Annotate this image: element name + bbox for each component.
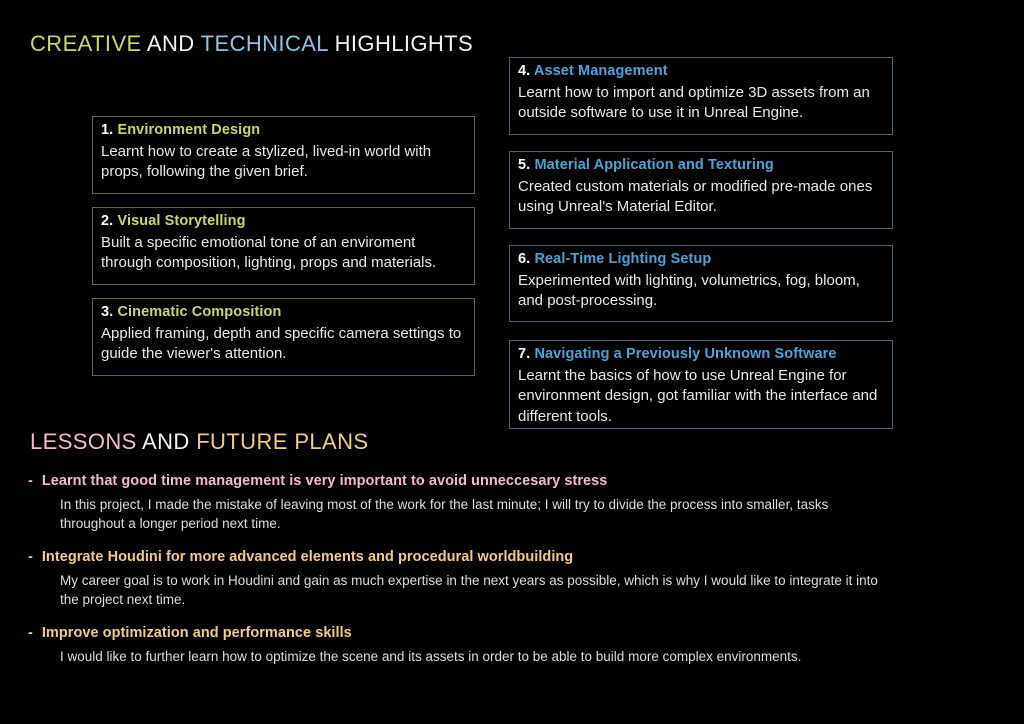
highlight-card-4: 4. Asset Management Learnt how to import… xyxy=(509,57,893,135)
highlight-card-3-body: Applied framing, depth and specific came… xyxy=(101,324,466,366)
lesson-3-description: I would like to further learn how to opt… xyxy=(60,647,880,666)
title-word-lessons: LESSONS xyxy=(30,429,137,454)
highlight-card-7-body: Learnt the basics of how to use Unreal E… xyxy=(518,366,884,429)
highlight-card-4-body: Learnt how to import and optimize 3D ass… xyxy=(518,83,884,125)
highlight-card-1: 1. Environment Design Learnt how to crea… xyxy=(92,116,475,194)
highlight-card-7-number: 7. xyxy=(518,346,530,362)
highlight-card-6-body: Experimented with lighting, volumetrics,… xyxy=(518,271,884,313)
highlight-card-7-title: 7. Navigating a Previously Unknown Softw… xyxy=(518,345,884,365)
bullet-dash-icon: - xyxy=(28,472,33,491)
bullet-dash-icon: - xyxy=(28,624,33,643)
lesson-2-title: Integrate Houdini for more advanced elem… xyxy=(42,548,573,567)
page-title-highlights: CREATIVE AND TECHNICAL HIGHLIGHTS xyxy=(30,31,473,57)
highlight-card-5-number: 5. xyxy=(518,157,530,173)
highlight-card-5-name: Material Application and Texturing xyxy=(534,157,773,173)
highlight-card-6-name: Real-Time Lighting Setup xyxy=(534,251,711,267)
highlight-card-6-title: 6. Real-Time Lighting Setup xyxy=(518,250,884,270)
list-item: - Improve optimization and performance s… xyxy=(28,624,994,666)
title-word-highlights: HIGHLIGHTS xyxy=(328,31,473,56)
title-word-and: AND xyxy=(142,31,201,56)
highlight-card-3-number: 3. xyxy=(101,304,113,320)
title-word-technical: TECHNICAL xyxy=(201,31,328,56)
title-word-and-2: AND xyxy=(137,429,196,454)
highlight-card-2-body: Built a specific emotional tone of an en… xyxy=(101,233,466,275)
lesson-2-description: My career goal is to work in Houdini and… xyxy=(60,571,880,609)
lesson-3-title: Improve optimization and performance ski… xyxy=(42,624,352,643)
highlight-card-5-title: 5. Material Application and Texturing xyxy=(518,156,884,176)
lesson-1-description: In this project, I made the mistake of l… xyxy=(60,495,880,533)
list-item: - Learnt that good time management is ve… xyxy=(28,472,994,533)
highlight-card-3: 3. Cinematic Composition Applied framing… xyxy=(92,298,475,376)
highlight-card-6-number: 6. xyxy=(518,251,530,267)
highlight-card-6: 6. Real-Time Lighting Setup Experimented… xyxy=(509,245,893,322)
highlight-card-1-body: Learnt how to create a stylized, lived-i… xyxy=(101,142,466,184)
highlight-card-1-title: 1. Environment Design xyxy=(101,121,466,141)
title-word-creative: CREATIVE xyxy=(30,31,142,56)
highlight-card-2: 2. Visual Storytelling Built a specific … xyxy=(92,207,475,285)
highlight-card-2-name: Visual Storytelling xyxy=(117,213,245,229)
bullet-dash-icon: - xyxy=(28,548,33,567)
highlight-card-3-title: 3. Cinematic Composition xyxy=(101,303,466,323)
lesson-1-title: Learnt that good time management is very… xyxy=(42,472,608,491)
highlight-card-4-title: 4. Asset Management xyxy=(518,62,884,82)
highlight-card-4-name: Asset Management xyxy=(534,63,668,79)
highlight-card-7-name: Navigating a Previously Unknown Software xyxy=(534,346,836,362)
lessons-list: - Learnt that good time management is ve… xyxy=(28,472,994,681)
highlight-card-2-number: 2. xyxy=(101,213,113,229)
title-word-future-plans: FUTURE PLANS xyxy=(196,429,368,454)
highlight-card-1-number: 1. xyxy=(101,122,113,138)
lesson-2-heading-row: - Integrate Houdini for more advanced el… xyxy=(28,548,994,567)
highlight-card-3-name: Cinematic Composition xyxy=(117,304,281,320)
highlight-card-2-title: 2. Visual Storytelling xyxy=(101,212,466,232)
highlight-card-1-name: Environment Design xyxy=(117,122,260,138)
lesson-1-heading-row: - Learnt that good time management is ve… xyxy=(28,472,994,491)
highlight-card-5: 5. Material Application and Texturing Cr… xyxy=(509,151,893,229)
list-item: - Integrate Houdini for more advanced el… xyxy=(28,548,994,609)
highlight-card-4-number: 4. xyxy=(518,63,530,79)
lesson-3-heading-row: - Improve optimization and performance s… xyxy=(28,624,994,643)
highlight-card-7: 7. Navigating a Previously Unknown Softw… xyxy=(509,340,893,429)
page-title-lessons: LESSONS AND FUTURE PLANS xyxy=(30,429,368,455)
highlight-card-5-body: Created custom materials or modified pre… xyxy=(518,177,884,219)
